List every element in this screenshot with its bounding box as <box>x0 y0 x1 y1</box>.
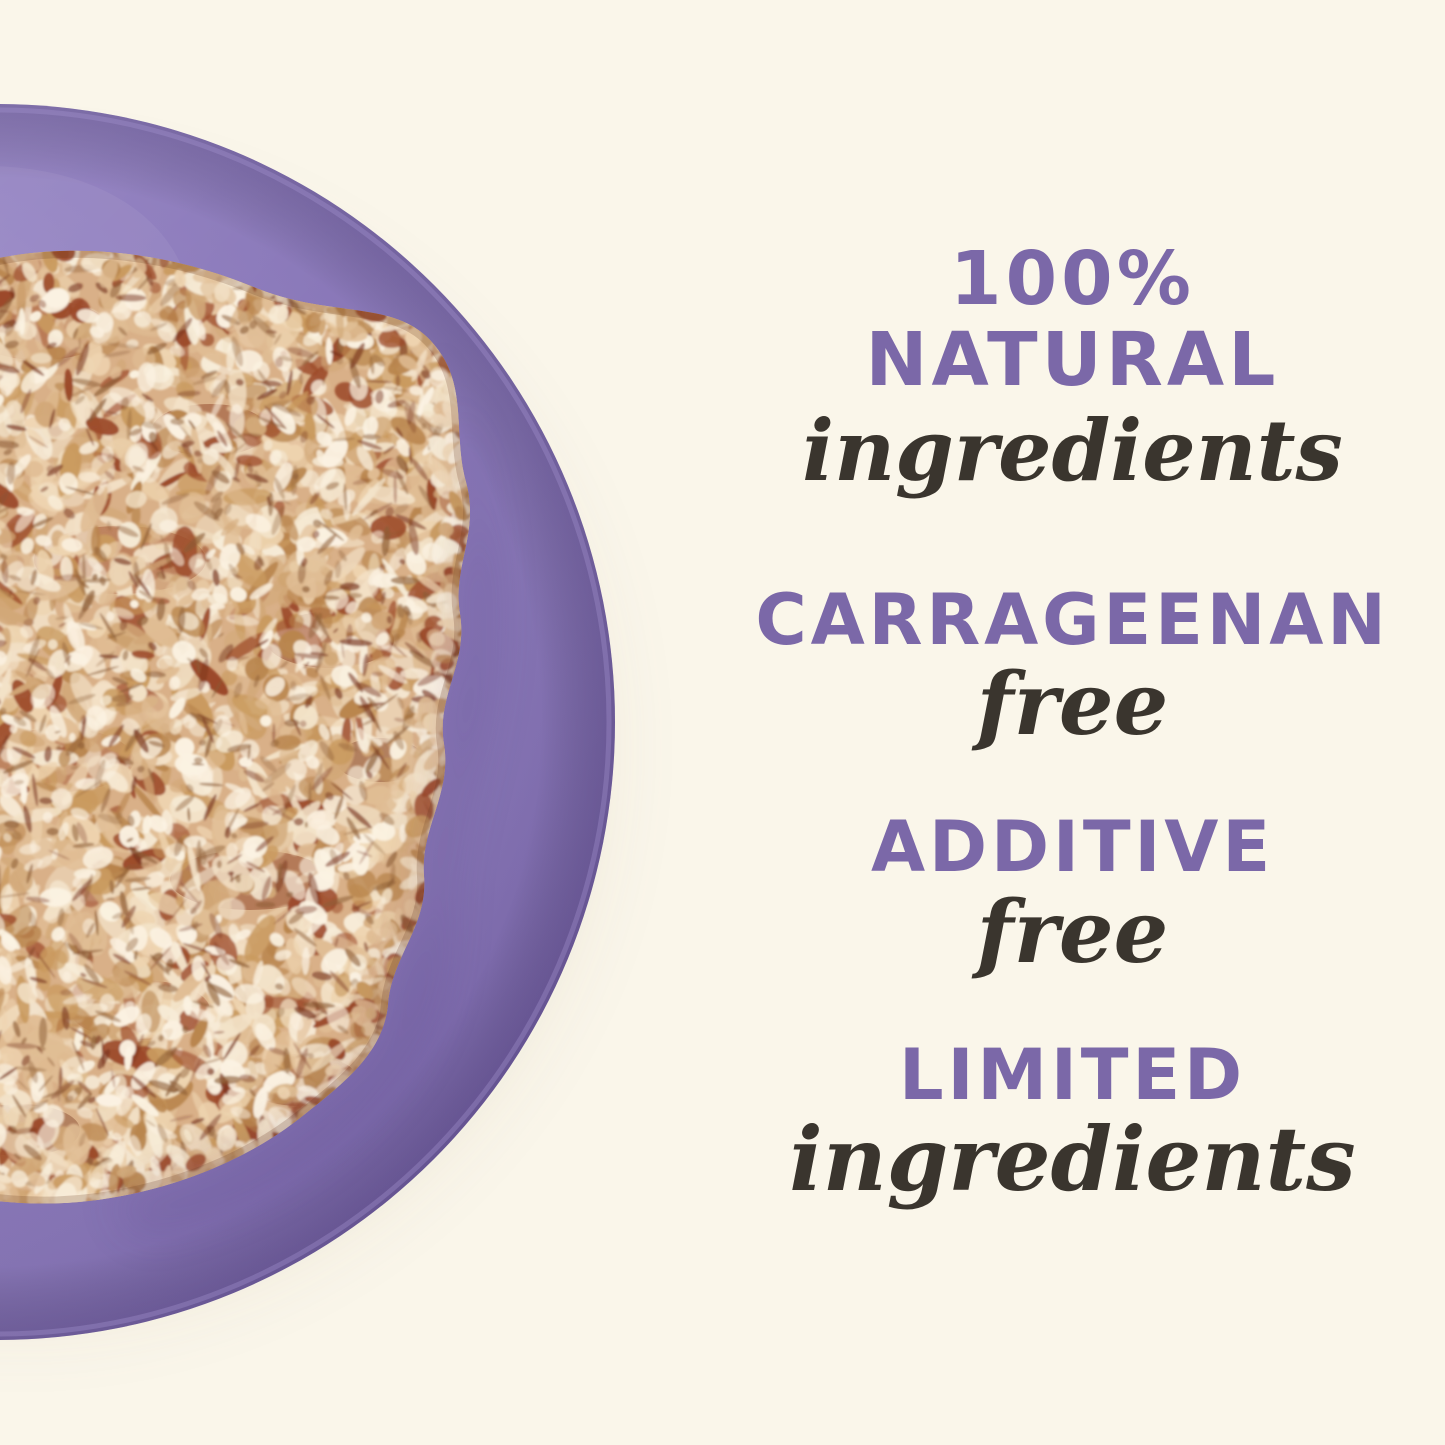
claim-natural-ingredients: 100% NATURAL ingredients <box>700 242 1445 493</box>
claim-carrageenan-headline: CARRAGEENAN <box>700 585 1445 656</box>
claim-natural-headline-2: NATURAL <box>700 323 1445 398</box>
claims-column: 100% NATURAL ingredients CARRAGEENAN fre… <box>700 0 1445 1445</box>
plate-photo-graphic <box>0 0 700 1445</box>
claim-additive-script: free <box>700 890 1445 976</box>
claim-limited-script: ingredients <box>700 1115 1445 1203</box>
product-feature-panel: 100% NATURAL ingredients CARRAGEENAN fre… <box>0 0 1445 1445</box>
claim-carrageenan-script: free <box>700 662 1445 748</box>
claim-limited-ingredients: LIMITED ingredients <box>700 1040 1445 1203</box>
claim-carrageenan-free: CARRAGEENAN free <box>700 585 1445 748</box>
claim-additive-free: ADDITIVE free <box>700 812 1445 975</box>
claim-additive-headline: ADDITIVE <box>700 812 1445 883</box>
product-photo <box>0 0 700 1445</box>
claim-limited-headline: LIMITED <box>700 1040 1445 1111</box>
claim-natural-script: ingredients <box>700 409 1445 493</box>
claim-natural-headline-1: 100% <box>700 242 1445 317</box>
